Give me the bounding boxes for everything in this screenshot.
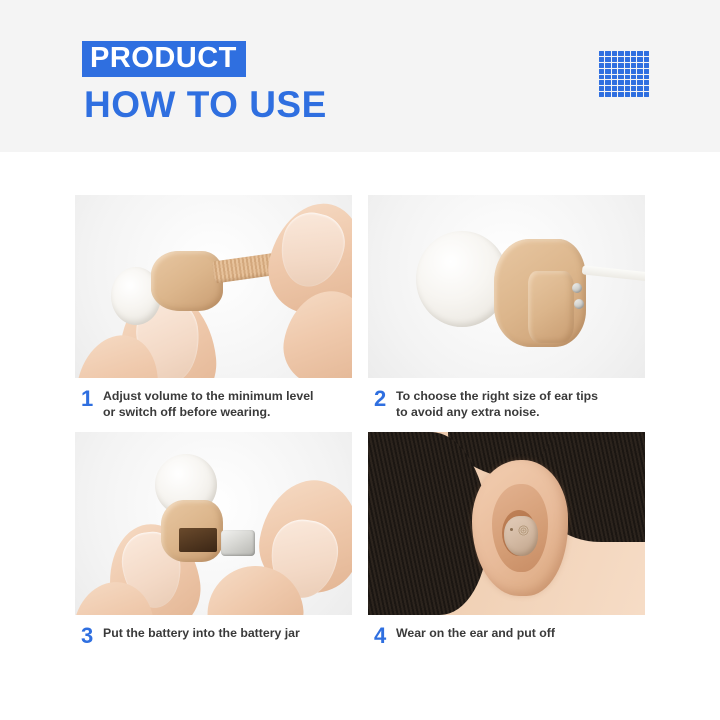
- dot: [644, 75, 649, 80]
- dot: [618, 80, 623, 85]
- dot: [618, 92, 623, 97]
- dot: [618, 57, 623, 62]
- step-text-line1: Put the battery into the battery jar: [103, 626, 300, 642]
- dot: [637, 92, 642, 97]
- hearing-aid-faceplate: [528, 271, 574, 343]
- dot: [625, 69, 630, 74]
- step-text-line1: To choose the right size of ear tips: [396, 389, 598, 405]
- dot: [618, 63, 623, 68]
- battery-compartment: [179, 528, 217, 552]
- title-highlight: PRODUCT: [82, 41, 246, 77]
- dot: [625, 57, 630, 62]
- dot: [605, 80, 610, 85]
- step-card-2: 2 To choose the right size of ear tips t…: [368, 195, 645, 432]
- dot: [612, 69, 617, 74]
- dot: [625, 75, 630, 80]
- dot: [644, 69, 649, 74]
- dot: [637, 51, 642, 56]
- dot: [599, 51, 604, 56]
- dot: [618, 86, 623, 91]
- dot: [631, 51, 636, 56]
- dot: [612, 92, 617, 97]
- dot: [599, 75, 604, 80]
- dot: [599, 69, 604, 74]
- dot: [605, 63, 610, 68]
- dot: [637, 63, 642, 68]
- steps-grid: 1 Adjust volume to the minimum level or …: [75, 195, 645, 661]
- dot: [637, 69, 642, 74]
- dot: [631, 69, 636, 74]
- dot: [644, 51, 649, 56]
- dot: [605, 51, 610, 56]
- dot: [631, 75, 636, 80]
- dot: [644, 80, 649, 85]
- dot: [644, 92, 649, 97]
- step-number-3: 3: [75, 624, 103, 647]
- dot: [637, 57, 642, 62]
- dot: [631, 86, 636, 91]
- dot: [599, 63, 604, 68]
- photo-ear-tip-size: [368, 195, 645, 378]
- dot: [612, 51, 617, 56]
- dot: [599, 92, 604, 97]
- step-card-1: 1 Adjust volume to the minimum level or …: [75, 195, 352, 432]
- dot-grid-icon: [599, 51, 649, 97]
- dot: [625, 51, 630, 56]
- dot: [618, 75, 623, 80]
- battery-door-knob: [574, 299, 584, 309]
- step-text-3: Put the battery into the battery jar: [103, 624, 300, 642]
- step-text-line2: to avoid any extra noise.: [396, 405, 598, 421]
- step-card-4: 4 Wear on the ear and put off: [368, 432, 645, 661]
- battery-cell: [221, 530, 255, 556]
- step-text-2: To choose the right size of ear tips to …: [396, 387, 598, 420]
- step-caption-1: 1 Adjust volume to the minimum level or …: [75, 378, 352, 432]
- hair: [368, 432, 488, 615]
- battery-door-knob: [572, 283, 582, 293]
- dot: [605, 86, 610, 91]
- dot: [625, 80, 630, 85]
- step-caption-2: 2 To choose the right size of ear tips t…: [368, 378, 645, 432]
- dot: [612, 86, 617, 91]
- dot: [612, 80, 617, 85]
- dot: [625, 63, 630, 68]
- page-title: PRODUCT HOW TO USE: [82, 41, 327, 123]
- dot: [599, 80, 604, 85]
- step-number-1: 1: [75, 387, 103, 410]
- dot: [612, 63, 617, 68]
- dot: [644, 86, 649, 91]
- dot: [605, 75, 610, 80]
- dot: [618, 51, 623, 56]
- dot: [605, 57, 610, 62]
- dot: [631, 92, 636, 97]
- hearing-aid-body: [151, 251, 223, 311]
- dot: [625, 86, 630, 91]
- photo-adjust-volume: [75, 195, 352, 378]
- step-number-2: 2: [368, 387, 396, 410]
- dot: [637, 86, 642, 91]
- dot: [631, 63, 636, 68]
- title-main: HOW TO USE: [84, 86, 327, 123]
- photo-insert-battery: [75, 432, 352, 615]
- step-caption-4: 4 Wear on the ear and put off: [368, 615, 645, 661]
- hearing-aid-body: [504, 516, 538, 556]
- dot: [637, 75, 642, 80]
- dot: [637, 80, 642, 85]
- dot: [599, 57, 604, 62]
- dot: [612, 57, 617, 62]
- step-card-3: 3 Put the battery into the battery jar: [75, 432, 352, 661]
- step-text-4: Wear on the ear and put off: [396, 624, 555, 642]
- step-text-line1: Wear on the ear and put off: [396, 626, 555, 642]
- step-text-line1: Adjust volume to the minimum level: [103, 389, 313, 405]
- dot: [599, 86, 604, 91]
- step-text-1: Adjust volume to the minimum level or sw…: [103, 387, 313, 420]
- dot: [631, 57, 636, 62]
- dot: [625, 92, 630, 97]
- dot: [631, 80, 636, 85]
- dot: [612, 75, 617, 80]
- step-text-line2: or switch off before wearing.: [103, 405, 313, 421]
- dot: [605, 69, 610, 74]
- dot: [605, 92, 610, 97]
- dot: [644, 63, 649, 68]
- dot: [618, 69, 623, 74]
- step-number-4: 4: [368, 624, 396, 647]
- dot: [644, 57, 649, 62]
- step-caption-3: 3 Put the battery into the battery jar: [75, 615, 352, 661]
- photo-wear-on-ear: [368, 432, 645, 615]
